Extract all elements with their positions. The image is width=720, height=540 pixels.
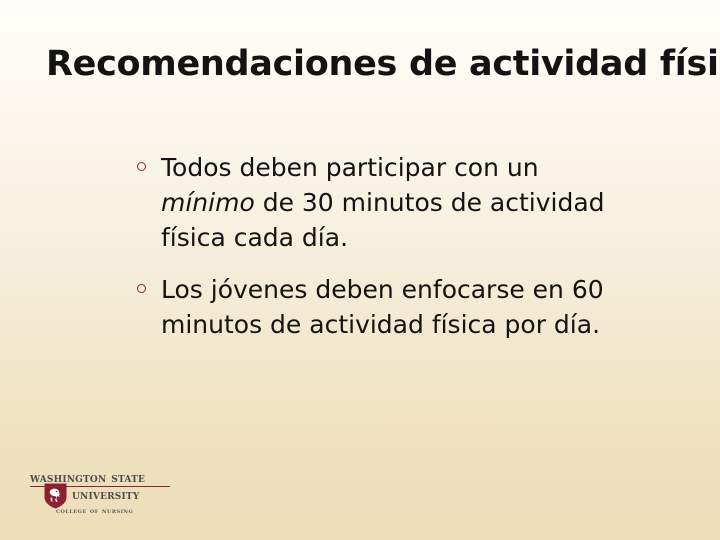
list-item: Los jóvenes deben enfocarse en 60 minuto… — [136, 272, 606, 342]
bullet-list: Todos deben participar con un mínimo de … — [136, 150, 606, 342]
list-item: Todos deben participar con un mínimo de … — [136, 150, 606, 255]
bullet-run: mínimo — [161, 188, 255, 217]
page-title: Recomendaciones de actividad física — [46, 44, 686, 84]
bullet-text-2: Los jóvenes deben enfocarse en 60 minuto… — [161, 272, 606, 342]
bullet-circle-icon — [137, 162, 146, 171]
logo-subtitle-college-of-nursing: College of Nursing — [56, 506, 133, 515]
wsu-logo: Washington State University College of N… — [28, 470, 208, 522]
bullet-circle-icon — [137, 284, 146, 293]
logo-wordmark: Washington State University — [28, 470, 208, 504]
bullet-run: Los jóvenes deben enfocarse en 60 minuto… — [161, 275, 604, 339]
bullet-text-1: Todos deben participar con un mínimo de … — [161, 150, 606, 255]
bullet-run: Todos deben participar con un — [161, 153, 539, 182]
logo-line-university: University — [72, 487, 139, 503]
slide-canvas: Recomendaciones de actividad física Todo… — [0, 0, 720, 540]
